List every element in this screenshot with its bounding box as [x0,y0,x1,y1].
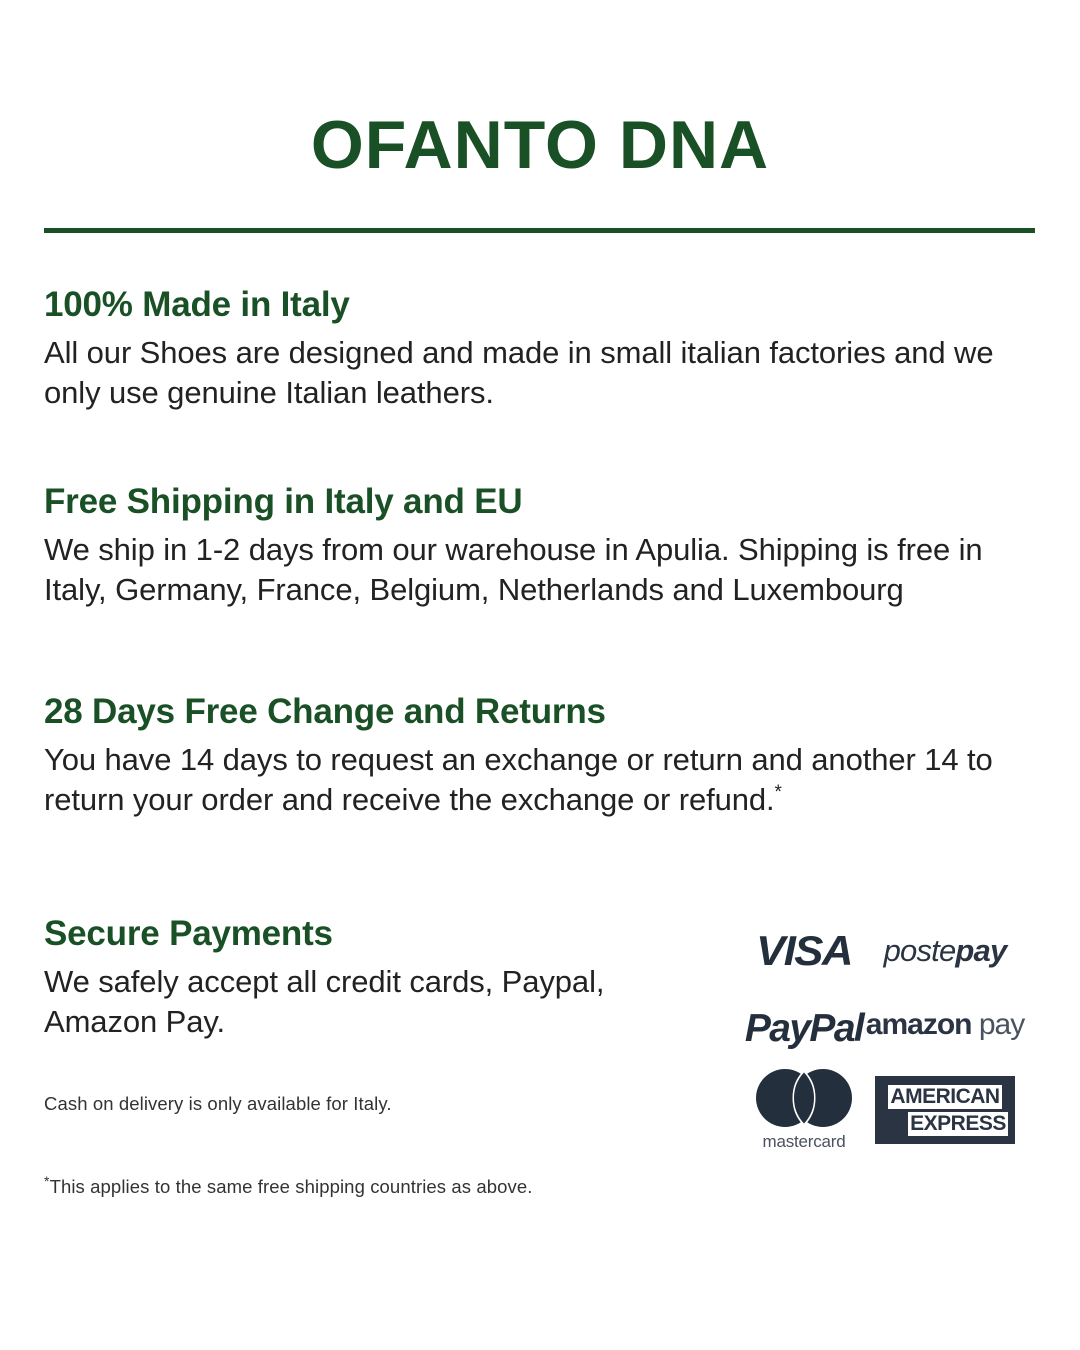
section-free-shipping: Free Shipping in Italy and EU We ship in… [44,480,1004,610]
postepay-icon: postepay [884,933,1007,969]
amazon-pay-label-regular [972,1008,979,1041]
section-made-in-italy: 100% Made in Italy All our Shoes are des… [44,283,1004,413]
section-heading-free-shipping: Free Shipping in Italy and EU [44,480,1004,524]
amex-label-line1: AMERICAN [890,1086,999,1108]
section-body-free-shipping: We ship in 1-2 days from our warehouse i… [44,530,1004,610]
payment-cell-mastercard: mastercard [738,1068,870,1152]
footnote-cash-on-delivery: Cash on delivery is only available for I… [44,1091,744,1117]
amazon-pay-label-bold: amazon [866,1008,972,1041]
mastercard-icon: mastercard [756,1069,852,1152]
returns-footnote-marker: * [775,782,782,803]
section-heading-made-in-italy: 100% Made in Italy [44,283,1004,327]
paypal-icon: PayPal [745,1007,863,1051]
payment-methods-grid: VISA postepay PayPal amazon pay [738,912,1020,1152]
amex-label-line2: EXPRESS [910,1113,1006,1135]
section-body-returns-text: You have 14 days to request an exchange … [44,742,993,817]
mastercard-overlap-lens [785,1069,823,1127]
visa-icon: VISA [756,927,852,975]
payment-cell-visa: VISA [738,912,870,990]
payment-cell-amazon-pay: amazon pay [870,990,1020,1068]
footnote-asterisk-text: This applies to the same free shipping c… [50,1176,533,1197]
page-title: OFANTO DNA [0,106,1080,184]
payment-cell-postepay: postepay [870,912,1020,990]
postepay-label-regular: poste [884,933,956,968]
american-express-icon: AMERICAN EXPRESS [875,1076,1015,1144]
amazon-pay-label-pay: pay [979,1008,1024,1041]
section-returns: 28 Days Free Change and Returns You have… [44,690,1034,820]
payment-cell-american-express: AMERICAN EXPRESS [870,1068,1020,1152]
amex-band-express: EXPRESS [908,1112,1008,1136]
amex-band-american: AMERICAN [888,1085,1001,1109]
mastercard-circles [756,1069,852,1127]
title-divider [44,228,1035,233]
section-body-secure-payments: We safely accept all credit cards, Paypa… [44,962,704,1042]
amazon-smile-icon [868,1038,976,1050]
section-heading-returns: 28 Days Free Change and Returns [44,690,1034,734]
section-secure-payments: Secure Payments We safely accept all cre… [44,912,704,1042]
footnote-asterisk: *This applies to the same free shipping … [44,1174,804,1200]
mastercard-label: mastercard [762,1132,845,1152]
section-body-returns: You have 14 days to request an exchange … [44,740,1034,820]
ofanto-dna-info-page: OFANTO DNA 100% Made in Italy All our Sh… [0,0,1080,1350]
section-heading-secure-payments: Secure Payments [44,912,704,956]
postepay-label-bold: pay [955,933,1006,968]
amazon-pay-icon: amazon pay [866,1008,1024,1051]
section-body-made-in-italy: All our Shoes are designed and made in s… [44,333,1004,413]
payment-cell-paypal: PayPal [738,990,870,1068]
